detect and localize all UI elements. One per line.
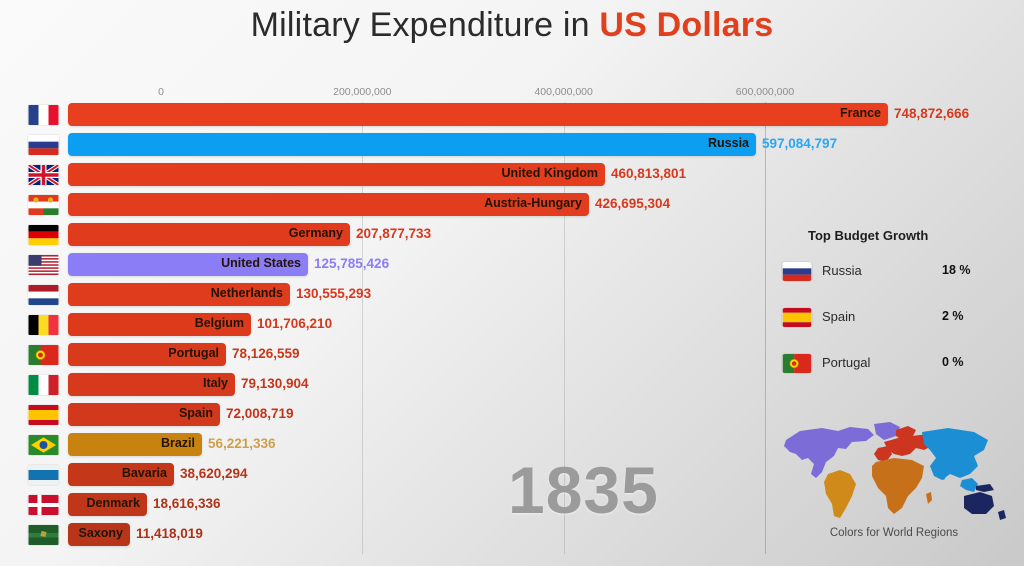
bar-row[interactable]: Russia597,084,797: [0, 132, 760, 158]
bar-value-label: 460,813,801: [611, 166, 686, 181]
bar-chart-race-visualization: Military Expenditure in US Dollars 0200,…: [0, 0, 1024, 566]
bar-country-label: United States: [221, 256, 301, 270]
world-map-legend: [778, 418, 1010, 526]
bar[interactable]: [68, 103, 888, 126]
france-flag: [28, 105, 59, 125]
austria-hungary-flag: [28, 195, 59, 215]
portugal-flag: [28, 345, 59, 365]
bavaria-flag: [28, 465, 59, 485]
oceania-region: [964, 492, 994, 514]
axis-tick-1: 200,000,000: [333, 86, 391, 98]
southeast-asia-region: [960, 478, 978, 492]
bar-value-label: 11,418,019: [136, 526, 203, 541]
bar-row[interactable]: Saxony11,418,019: [0, 522, 760, 548]
bar-value-label: 207,877,733: [356, 226, 431, 241]
bar-value-label: 38,620,294: [180, 466, 248, 481]
denmark-flag: [28, 495, 59, 515]
bar-row[interactable]: United Kingdom460,813,801: [0, 162, 760, 188]
bar-row[interactable]: Spain72,008,719: [0, 402, 760, 428]
bar-country-label: Italy: [203, 376, 228, 390]
title-plain-text: Military Expenditure in: [251, 6, 600, 44]
growth-country-label: Russia: [822, 263, 862, 278]
madagascar-region: [926, 492, 932, 504]
portugal-flag: [28, 345, 59, 365]
growth-rows: Russia18 %Spain2 %Portugal0 %: [782, 260, 1012, 381]
bar-row[interactable]: Netherlands130,555,293: [0, 282, 760, 308]
top-budget-growth-panel: Top Budget Growth Russia18 %Spain2 %Port…: [782, 228, 1012, 381]
russia-flag: [782, 262, 812, 281]
axis-tick-3: 600,000,000: [736, 86, 794, 98]
bar-value-label: 597,084,797: [762, 136, 837, 151]
world-map-icon: [778, 418, 1010, 526]
bar-row[interactable]: Denmark18,616,336: [0, 492, 760, 518]
france-flag: [28, 105, 59, 125]
axis-tick-0: 0: [158, 86, 164, 98]
bar-country-label: France: [840, 106, 881, 120]
south-america-region: [824, 470, 856, 518]
russia-flag: [28, 135, 59, 155]
bar-row[interactable]: Brazil56,221,336: [0, 432, 760, 458]
axis-tick-2: 400,000,000: [534, 86, 592, 98]
brazil-flag: [28, 435, 59, 455]
bar-value-label: 78,126,559: [232, 346, 300, 361]
bar-country-label: United Kingdom: [501, 166, 598, 180]
africa-region: [872, 458, 924, 514]
asia-region: [922, 428, 988, 480]
bar-country-label: Bavaria: [122, 466, 167, 480]
bar-country-label: Germany: [289, 226, 343, 240]
spain-flag: [28, 405, 59, 425]
portugal-flag: [782, 354, 812, 373]
page-title: Military Expenditure in US Dollars: [0, 6, 1024, 45]
italy-flag: [28, 375, 59, 395]
x-axis-ticks: 0200,000,000400,000,000600,000,000: [0, 86, 1024, 102]
spain-flag: [782, 308, 812, 327]
growth-percent-label: 2 %: [942, 309, 964, 323]
bavaria-flag: [28, 465, 59, 485]
bar-value-label: 72,008,719: [226, 406, 294, 421]
bar-rows: France748,872,666Russia597,084,797United…: [0, 102, 760, 558]
bar-country-label: Spain: [179, 406, 213, 420]
bar-row[interactable]: Portugal78,126,559: [0, 342, 760, 368]
bar-value-label: 130,555,293: [296, 286, 371, 301]
saxony-flag: [28, 525, 59, 545]
portugal-flag: [782, 354, 812, 373]
bar-country-label: Russia: [708, 136, 749, 150]
bar-row[interactable]: United States125,785,426: [0, 252, 760, 278]
bar[interactable]: [68, 133, 756, 156]
bar-country-label: Portugal: [168, 346, 219, 360]
netherlands-flag: [28, 285, 59, 305]
map-legend-caption: Colors for World Regions: [778, 527, 1010, 539]
bar-row[interactable]: Italy79,130,904: [0, 372, 760, 398]
spain-flag: [28, 405, 59, 425]
growth-row[interactable]: Russia18 %: [782, 260, 1012, 289]
bar-row[interactable]: France748,872,666: [0, 102, 760, 128]
bar-country-label: Denmark: [87, 496, 141, 510]
title-highlight-text: US Dollars: [599, 6, 773, 44]
united-states-flag: [28, 255, 59, 275]
netherlands-flag: [28, 285, 59, 305]
bar-value-label: 748,872,666: [894, 106, 969, 121]
belgium-flag: [28, 315, 59, 335]
bar-value-label: 101,706,210: [257, 316, 332, 331]
bar-country-label: Belgium: [195, 316, 244, 330]
bar-row[interactable]: Austria-Hungary426,695,304: [0, 192, 760, 218]
united-kingdom-flag: [28, 165, 59, 185]
denmark-flag: [28, 495, 59, 515]
belgium-flag: [28, 315, 59, 335]
growth-percent-label: 0 %: [942, 355, 964, 369]
spain-flag: [782, 308, 812, 327]
bar-value-label: 79,130,904: [241, 376, 309, 391]
bar-value-label: 56,221,336: [208, 436, 276, 451]
panel-divider: [765, 102, 766, 554]
austria-hungary-flag: [28, 195, 59, 215]
bar-country-label: Austria-Hungary: [484, 196, 582, 210]
growth-country-label: Spain: [822, 309, 855, 324]
growth-percent-label: 18 %: [942, 263, 971, 277]
russia-flag: [782, 262, 812, 281]
russia-flag: [28, 135, 59, 155]
bar-value-label: 18,616,336: [153, 496, 221, 511]
growth-row[interactable]: Spain2 %: [782, 306, 1012, 335]
growth-panel-title: Top Budget Growth: [808, 228, 1012, 243]
new-zealand-region: [998, 510, 1006, 520]
new-guinea-region: [976, 484, 994, 492]
germany-flag: [28, 225, 59, 245]
brazil-flag: [28, 435, 59, 455]
united-kingdom-flag: [28, 165, 59, 185]
growth-row[interactable]: Portugal0 %: [782, 352, 1012, 381]
italy-flag: [28, 375, 59, 395]
bar-value-label: 125,785,426: [314, 256, 389, 271]
north-america-region: [784, 427, 874, 478]
bar-value-label: 426,695,304: [595, 196, 670, 211]
bar-country-label: Saxony: [79, 526, 123, 540]
bar-row[interactable]: Germany207,877,733: [0, 222, 760, 248]
saxony-flag: [28, 525, 59, 545]
germany-flag: [28, 225, 59, 245]
bar-row[interactable]: Belgium101,706,210: [0, 312, 760, 338]
bar-country-label: Netherlands: [211, 286, 283, 300]
bar-country-label: Brazil: [161, 436, 195, 450]
united-states-flag: [28, 255, 59, 275]
growth-country-label: Portugal: [822, 355, 870, 370]
bar-row[interactable]: Bavaria38,620,294: [0, 462, 760, 488]
